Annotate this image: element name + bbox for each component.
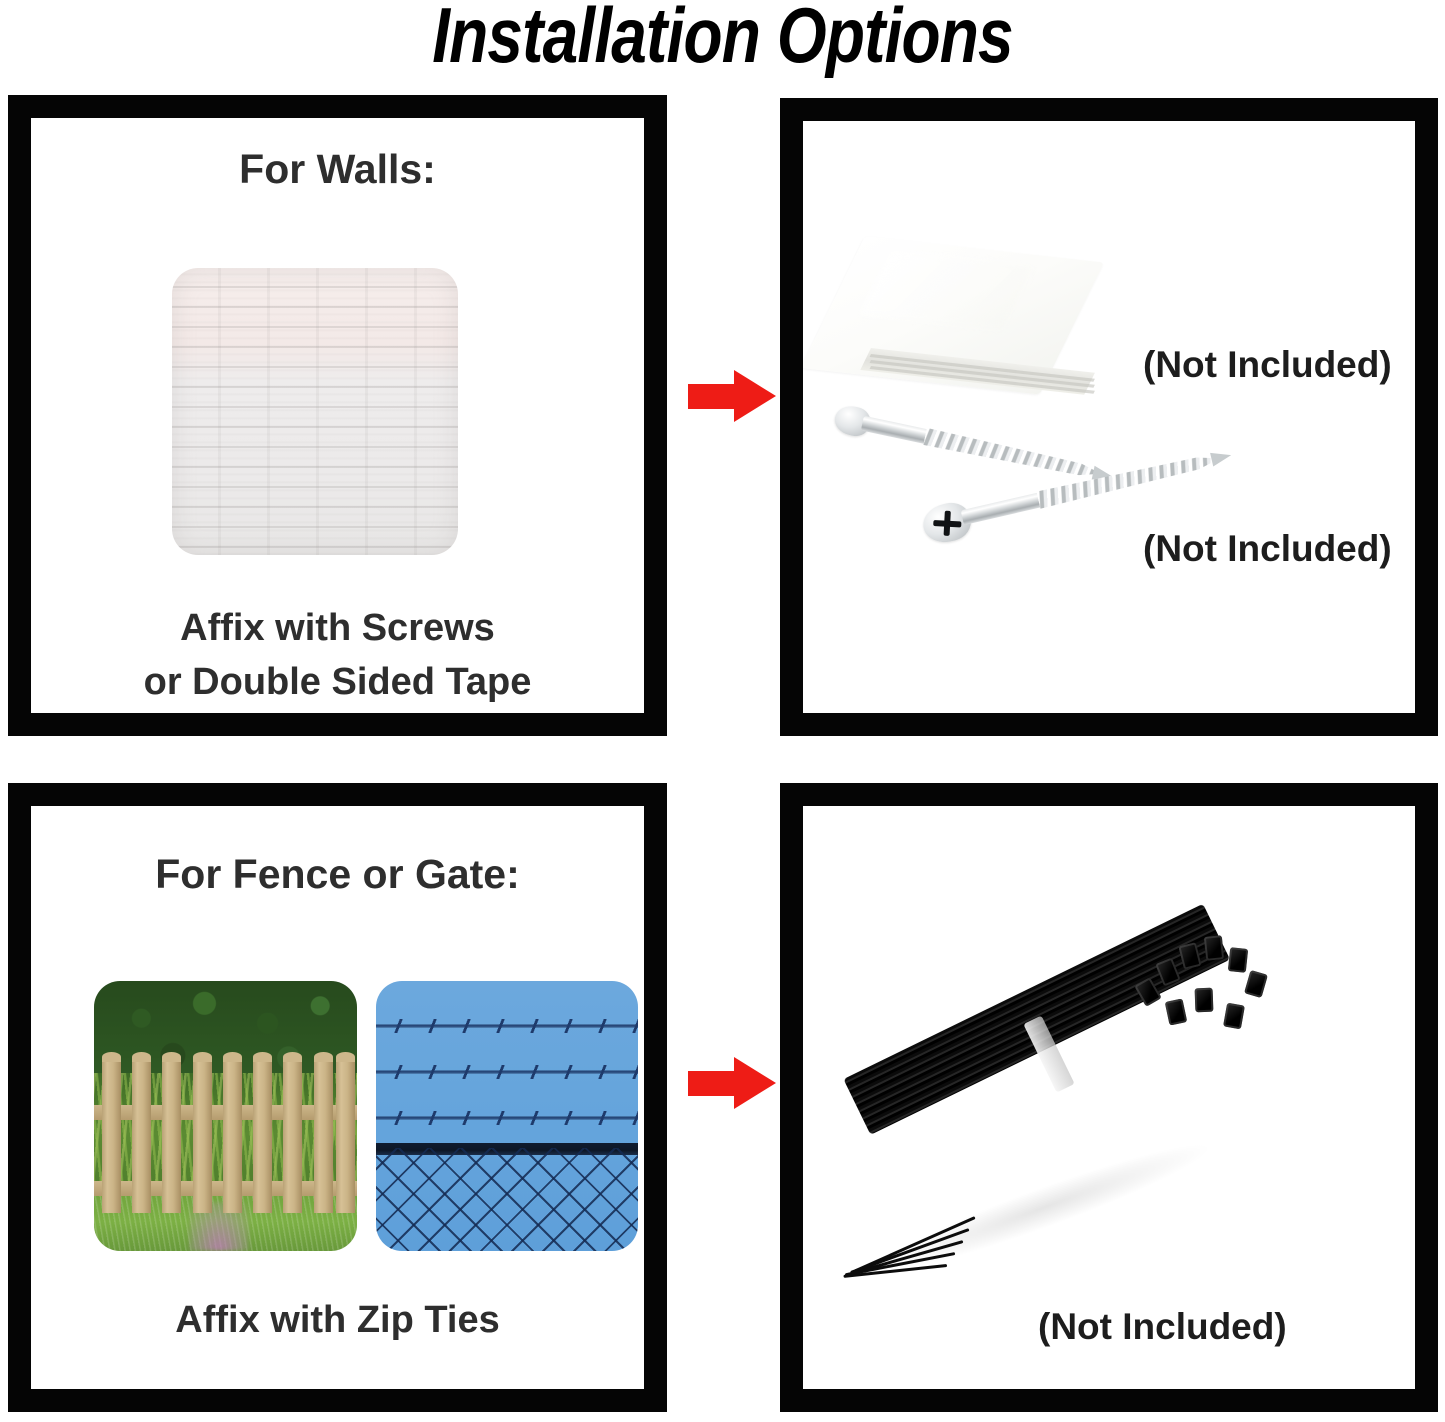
walls-caption-line-2: or Double Sided Tape: [31, 661, 644, 704]
wooden-picket-fence-image: [94, 981, 357, 1251]
walls-caption-line-1: Affix with Screws: [31, 607, 644, 650]
fence-picket: [223, 1057, 242, 1214]
fence-caption: Affix with Zip Ties: [31, 1299, 644, 1342]
zip-ties-not-included-label: (Not Included): [1038, 1306, 1287, 1348]
red-right-arrow-icon: [688, 370, 776, 422]
zip-tie-tails: [843, 1210, 983, 1276]
zip-tie-head: [1223, 1003, 1245, 1030]
panel-for-walls-content: For Walls: Affix with Screws or Double S…: [31, 118, 644, 713]
panel-for-fence-or-gate: For Fence or Gate:: [8, 783, 667, 1412]
zip-tie-head: [1204, 935, 1224, 961]
chain-link-barbed-wire-fence-image: [376, 981, 638, 1251]
for-fence-or-gate-heading: For Fence or Gate:: [31, 851, 644, 898]
panel-for-walls: For Walls: Affix with Screws or Double S…: [8, 95, 667, 736]
zip-tie-heads: [1135, 934, 1275, 1054]
fence-picket: [102, 1057, 121, 1214]
page-title: Installation Options: [130, 0, 1315, 74]
zip-tie-head: [1228, 947, 1248, 973]
screw-shank: [961, 491, 1048, 525]
arrow-head: [734, 1057, 776, 1109]
installation-options-infographic: Installation Options For Walls: Affix wi…: [0, 0, 1445, 1422]
fence-picket: [162, 1057, 181, 1214]
screw-tip: [1210, 448, 1233, 466]
zip-tie-head: [1165, 998, 1188, 1025]
zip-tie-bundle-image: [843, 926, 1273, 1286]
for-walls-heading: For Walls:: [31, 146, 644, 193]
chain-link-mesh: [376, 1148, 638, 1251]
panel-hardware: (Not Included) (Not Included): [780, 98, 1438, 736]
zip-tie-head: [1244, 970, 1268, 998]
zip-tie-head: [1134, 977, 1162, 1007]
barbed-wire-strand: [376, 1024, 638, 1028]
double-sided-tape-stack-image: [865, 236, 1131, 406]
barbed-wire-strand: [376, 1070, 638, 1074]
zip-tie-head: [1178, 942, 1201, 970]
panel-zip-ties-content: (Not Included): [803, 806, 1415, 1389]
panel-for-fence-content: For Fence or Gate:: [31, 806, 644, 1389]
tape-not-included-label: (Not Included): [1143, 344, 1392, 386]
fence-picket: [132, 1057, 151, 1214]
red-right-arrow-icon: [688, 1057, 776, 1109]
fence-picket: [336, 1057, 355, 1214]
fence-picket: [193, 1057, 212, 1214]
fence-picket: [253, 1057, 272, 1214]
screws-not-included-label: (Not Included): [1143, 528, 1392, 570]
arrow-shaft: [688, 384, 740, 409]
zip-tie-head: [1195, 988, 1214, 1013]
white-brick-wall-image: [172, 268, 458, 555]
barbed-wire-strand: [376, 1116, 638, 1120]
panel-hardware-content: (Not Included) (Not Included): [803, 121, 1415, 713]
panel-zip-ties: (Not Included): [780, 783, 1438, 1412]
screw-upper-image: [838, 403, 1108, 488]
arrow-shaft: [688, 1071, 740, 1096]
fence-picket: [283, 1057, 302, 1214]
screw-shank: [861, 416, 935, 446]
fence-picket: [314, 1057, 333, 1214]
arrow-head: [734, 370, 776, 422]
zip-tie-head: [1155, 958, 1181, 987]
